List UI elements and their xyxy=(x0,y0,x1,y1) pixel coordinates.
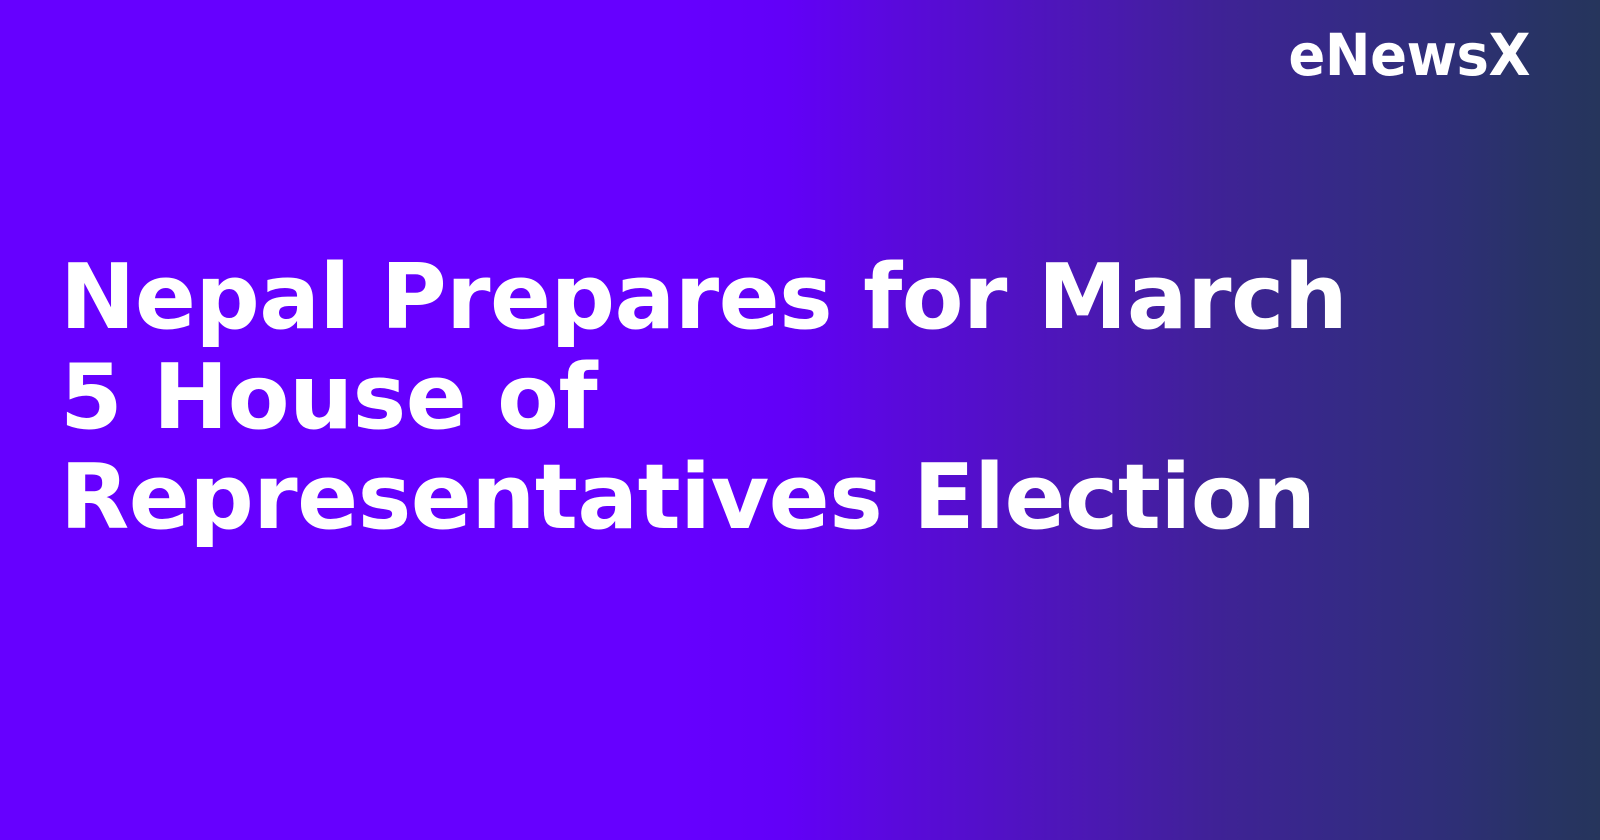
brand-logo[interactable]: eNewsX xyxy=(1288,26,1530,84)
headline-title: Nepal Prepares for March 5 House of Repr… xyxy=(60,248,1390,548)
news-banner: eNewsX Nepal Prepares for March 5 House … xyxy=(0,0,1600,840)
